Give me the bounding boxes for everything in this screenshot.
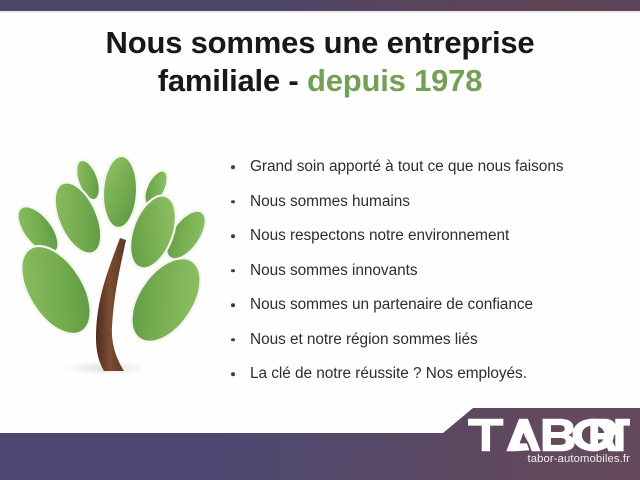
tree-trunk	[96, 238, 126, 371]
bullet-dot-icon	[231, 303, 235, 307]
list-item: La clé de notre réussite ? Nos employés.	[228, 357, 628, 392]
top-bar-hairline	[0, 11, 640, 13]
list-item-label: Nous respectons notre environnement	[250, 227, 509, 245]
list-item: Nous et notre région sommes liés	[228, 323, 628, 358]
list-item: Nous sommes innovants	[228, 254, 628, 289]
headline-line-2: familiale - depuis 1978	[0, 62, 640, 100]
bullet-dot-icon	[231, 269, 235, 273]
bullet-dot-icon	[231, 200, 235, 204]
page-title: Nous sommes une entreprise familiale - d…	[0, 24, 640, 100]
tabor-wordmark-logo	[468, 418, 630, 452]
bullet-dot-icon	[231, 234, 235, 238]
list-item: Grand soin apporté à tout ce que nous fa…	[228, 150, 628, 185]
headline-line-1: Nous sommes une entreprise	[0, 24, 640, 62]
leaf	[101, 155, 139, 229]
top-accent-bar	[0, 0, 640, 11]
bullet-dot-icon	[231, 372, 235, 376]
bullet-dot-icon	[231, 165, 235, 169]
brand-tagline: tabor-automobiles.fr	[450, 453, 630, 465]
list-item-label: La clé de notre réussite ? Nos employés.	[250, 365, 527, 383]
bullet-dot-icon	[231, 338, 235, 342]
list-item: Nous sommes humains	[228, 185, 628, 220]
tree-illustration	[8, 140, 220, 390]
headline-line-2-prefix: familiale -	[158, 63, 307, 98]
leaf	[117, 246, 214, 354]
list-item-label: Nous et notre région sommes liés	[250, 331, 478, 349]
list-item: Nous sommes un partenaire de confiance	[228, 288, 628, 323]
list-item-label: Nous sommes un partenaire de confiance	[250, 296, 533, 314]
headline-since-year: depuis 1978	[307, 63, 482, 98]
list-item: Nous respectons notre environnement	[228, 219, 628, 254]
value-proposition-list: Grand soin apporté à tout ce que nous fa…	[228, 150, 628, 392]
list-item-label: Nous sommes humains	[250, 193, 410, 211]
list-item-label: Grand soin apporté à tout ce que nous fa…	[250, 158, 563, 176]
brand-logo-block: tabor-automobiles.fr	[450, 418, 630, 465]
slide-canvas: Nous sommes une entreprise familiale - d…	[0, 0, 640, 480]
list-item-label: Nous sommes innovants	[250, 262, 417, 280]
